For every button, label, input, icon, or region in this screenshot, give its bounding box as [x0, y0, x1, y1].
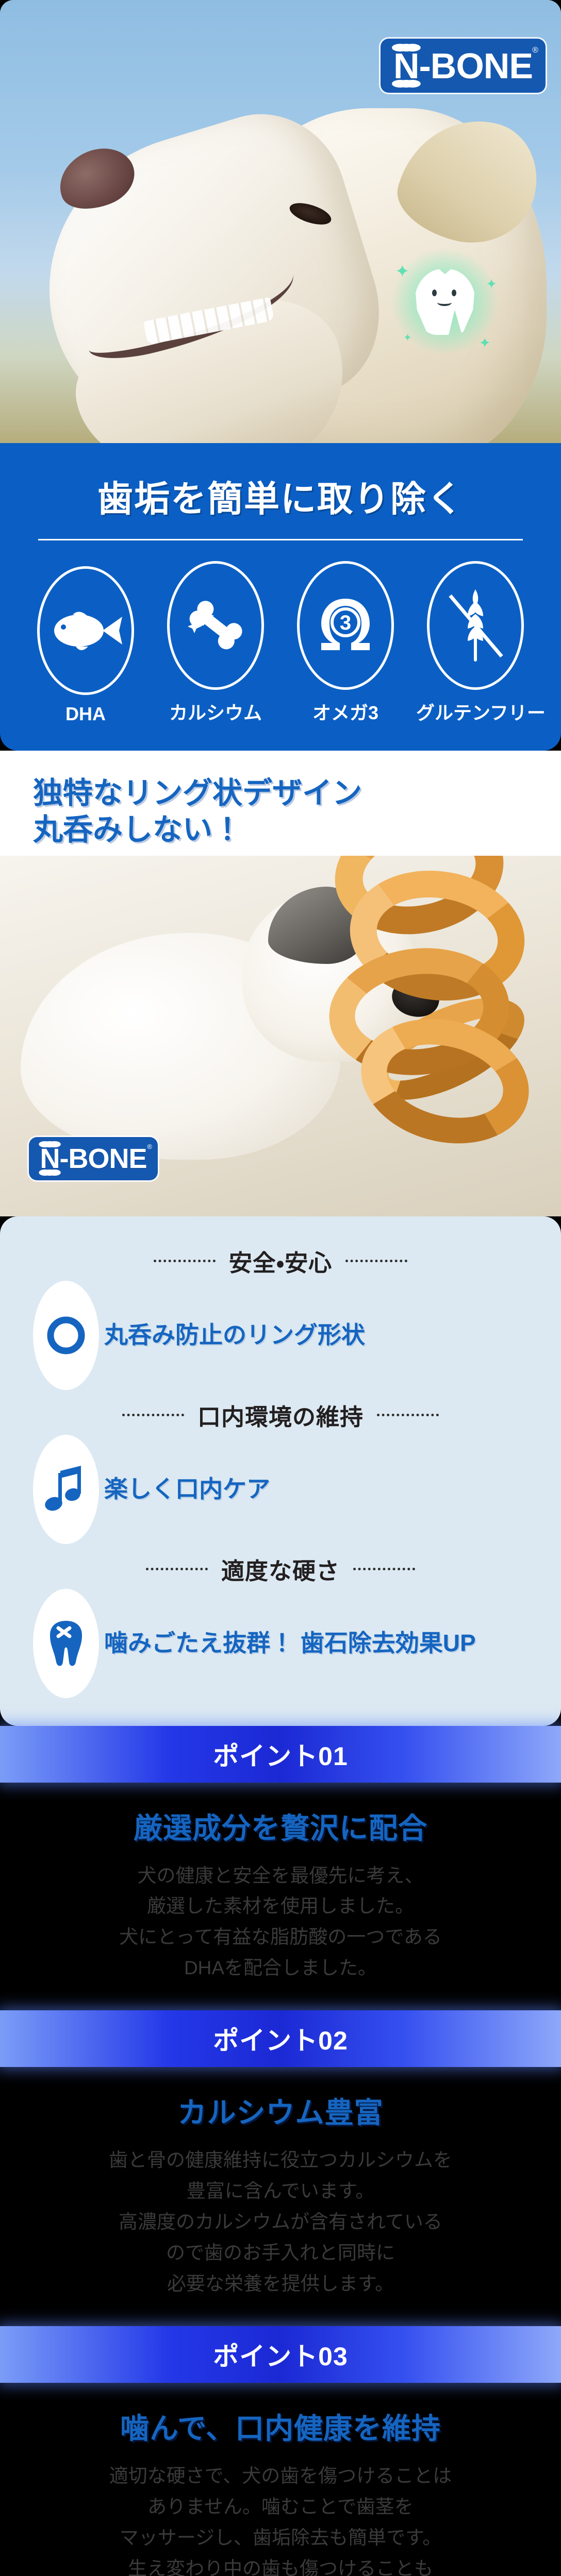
point-02-body: 歯と骨の健康維持に役立つカルシウムを 豊富に含んでいます。 高濃度のカルシウムが… [0, 2137, 561, 2318]
plaque-removal-banner: 歯垢を簡単に取り除く DHA [0, 443, 561, 751]
bone-icon [167, 561, 264, 690]
feature-safety-text: 丸呑み防止のリング形状 [104, 1320, 365, 1350]
ring-design-title: 独特なリング状デザイン 丸呑みしない！ [0, 775, 561, 849]
point-03-badge: ポイント03 [0, 2326, 561, 2383]
banner-divider [38, 539, 523, 540]
ingredient-icon-row: DHA カルシウム [21, 561, 540, 725]
feature-hardness-heading: 適度な硬さ [0, 1552, 561, 1586]
tooth-icon [33, 1589, 99, 1698]
puppy-chewing-photo: N-BONE ® [0, 856, 561, 1216]
logo-bone-n-secondary: N [40, 1143, 60, 1175]
ingredient-dha: DHA [26, 566, 145, 725]
dotted-rule-right [353, 1568, 415, 1570]
feature-hardness-text: 噛みごたえ抜群！ 歯石除去効果UP [104, 1628, 476, 1658]
ring-design-line2: 丸呑みしない！ [33, 812, 561, 849]
product-landing-page: ✦ ✦ ✦ ✦ N-BONE ® 歯垢を簡単に取り除く [0, 0, 561, 2576]
dotted-rule-left [122, 1414, 184, 1416]
music-note-icon [33, 1435, 99, 1544]
ingredient-gluten-free: グルテンフリー [416, 561, 535, 725]
point-02-badge: ポイント02 [0, 2010, 561, 2067]
feature-oral-heading: 口内環境の維持 [0, 1398, 561, 1432]
point-03-title: 噛んで、口内健康を維持 [0, 2383, 561, 2452]
point-02-title: カルシウム豊富 [0, 2067, 561, 2137]
point-02-badge-label: ポイント02 [213, 2020, 348, 2057]
wheat-free-icon [427, 561, 524, 690]
feature-safety: 安全・安心 丸呑み防止のリング形状 [0, 1244, 561, 1390]
feature-safety-heading-text: 安全・安心 [229, 1244, 332, 1278]
point-02-section: ポイント02 カルシウム豊富 歯と骨の健康維持に役立つカルシウムを 豊富に含んで… [0, 2010, 561, 2326]
feature-hardness: 適度な硬さ 噛みごたえ抜群！ 歯石除去効果UP [0, 1552, 561, 1698]
ingredient-omega3-label: オメガ3 [286, 698, 405, 725]
point-01-title: 厳選成分を贅沢に配合 [0, 1783, 561, 1852]
feature-oral-environment: 口内環境の維持 楽しく口内ケア [0, 1398, 561, 1544]
svg-text:3: 3 [340, 612, 351, 634]
feature-oral-heading-text: 口内環境の維持 [197, 1398, 364, 1432]
hero-dog-photo: ✦ ✦ ✦ ✦ N-BONE ® [0, 0, 561, 443]
dotted-rule-right [345, 1260, 407, 1262]
logo-bone-rest: -BONE [419, 46, 533, 86]
dotted-rule-left [154, 1260, 216, 1262]
point-01-body: 犬の健康と安全を最優先に考え、 厳選した素材を使用しました。 犬にとって有益な脂… [0, 1852, 561, 2003]
ring-icon [33, 1281, 99, 1390]
feature-safety-heading: 安全・安心 [0, 1244, 561, 1278]
dotted-rule-left [146, 1568, 208, 1570]
nbone-logo: N-BONE ® [381, 39, 546, 93]
point-03-section: ポイント03 噛んで、口内健康を維持 適切な硬さで、犬の歯を傷つけることは あり… [0, 2326, 561, 2576]
point-01-badge-label: ポイント01 [213, 1736, 348, 1773]
logo-bone-rest-secondary: -BONE [60, 1143, 147, 1174]
registered-mark-icon: ® [532, 46, 538, 55]
feature-list-section: 安全・安心 丸呑み防止のリング形状 口内環境の維持 [0, 1216, 561, 1726]
ingredient-omega3: 3 オメガ3 [286, 561, 405, 725]
ingredient-calcium: カルシウム [156, 561, 275, 725]
ring-design-line1: 独特なリング状デザイン [33, 775, 561, 812]
fish-icon [37, 566, 134, 695]
point-01-section: ポイント01 厳選成分を贅沢に配合 犬の健康と安全を最優先に考え、 厳選した素材… [0, 1726, 561, 2011]
point-03-body: 適切な硬さで、犬の歯を傷つけることは ありません。噛むことで歯茎を マッサージし… [0, 2452, 561, 2576]
point-01-badge: ポイント01 [0, 1726, 561, 1783]
chew-ring-stack [313, 856, 561, 1185]
ring-design-section: 独特なリング状デザイン 丸呑みしない！ N-BONE ® [0, 751, 561, 1216]
nbone-logo-secondary: N-BONE ® [29, 1137, 158, 1180]
feature-hardness-heading-text: 適度な硬さ [221, 1552, 340, 1586]
omega3-icon: 3 [297, 561, 394, 690]
logo-bone-n: N [393, 45, 419, 87]
feature-oral-text: 楽しく口内ケア [104, 1474, 270, 1504]
registered-mark-icon-secondary: ® [147, 1143, 152, 1150]
ingredient-calcium-label: カルシウム [156, 698, 275, 725]
point-03-badge-label: ポイント03 [213, 2336, 348, 2373]
ingredient-gluten-free-label: グルテンフリー [416, 698, 535, 725]
banner-headline: 歯垢を簡単に取り除く [21, 470, 540, 521]
tooth-mascot-icon: ✦ ✦ ✦ ✦ [391, 247, 499, 355]
ingredient-dha-label: DHA [26, 703, 145, 725]
dotted-rule-right [377, 1414, 439, 1416]
